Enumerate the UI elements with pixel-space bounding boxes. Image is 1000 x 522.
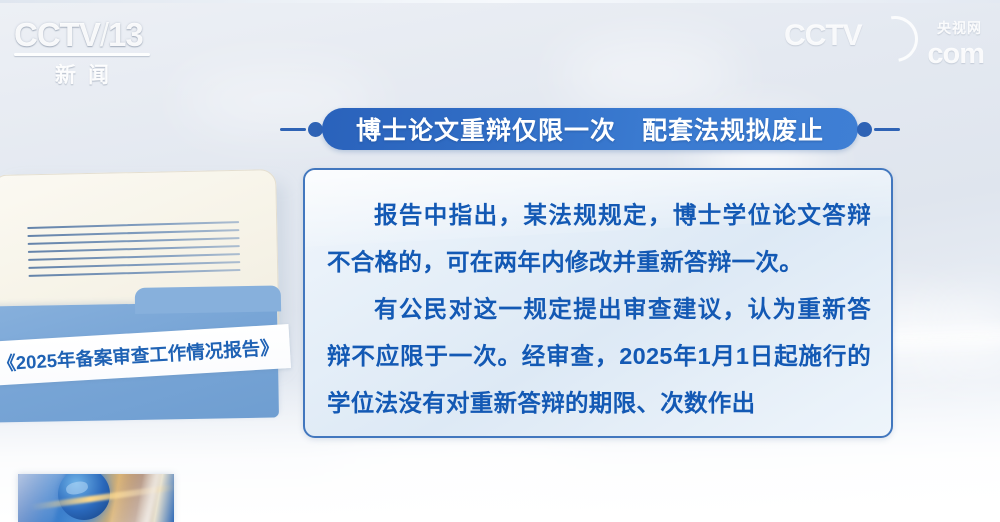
- content-paragraph: 报告中指出，某法规规定，博士学位论文答辩不合格的，可在两年内修改并重新答辩一次。: [327, 192, 871, 286]
- report-folder-illustration: 《2025年备案审查工作情况报告》: [0, 172, 287, 420]
- thumbnail-light-streak: [106, 474, 162, 522]
- document-line: [28, 253, 240, 261]
- cctv13-brand-text: CCTV: [14, 16, 100, 53]
- document-line: [28, 261, 240, 269]
- document-line: [28, 245, 240, 253]
- background-top-line: [0, 0, 1000, 3]
- news-broadcast-thumbnail: [18, 474, 174, 522]
- headline-left-dot-icon: [308, 122, 323, 137]
- background-blob: [560, 40, 740, 110]
- cctv-com-domain-text: com: [927, 38, 984, 71]
- folder-tab: [135, 285, 281, 314]
- document-line: [28, 237, 240, 245]
- cctv13-slash: /: [100, 16, 108, 53]
- cctv13-underline: [14, 53, 150, 56]
- content-paragraph: 有公民对这一规定提出审查建议，认为重新答辩不应限于一次。经审查，2025年1月1…: [327, 286, 871, 427]
- cctv13-subtitle: 新闻: [14, 59, 150, 89]
- broadcast-screen: CCTV/13 新闻 CCTV 央视网 com 博士论文重辩仅限一次 配套法规拟…: [0, 0, 1000, 522]
- headline-right-line: [874, 128, 900, 131]
- background-blob: [330, 430, 590, 510]
- headline-title: 博士论文重辩仅限一次 配套法规拟废止: [356, 111, 824, 147]
- headline-bar: 博士论文重辩仅限一次 配套法规拟废止: [280, 108, 900, 150]
- headline-right-dot-icon: [857, 122, 872, 137]
- swoosh-arc-icon: [863, 7, 927, 71]
- folder-label-text: 《2025年备案审查工作情况报告》: [0, 334, 279, 377]
- headline-left-line: [280, 128, 306, 131]
- cctv-com-chinese-text: 央视网: [937, 18, 982, 38]
- cctv13-wordmark: CCTV/13: [14, 18, 164, 52]
- cctv13-number: 13: [108, 16, 143, 53]
- cctv13-channel-logo: CCTV/13 新闻: [14, 18, 164, 86]
- content-body: 报告中指出，某法规规定，博士学位论文答辩不合格的，可在两年内修改并重新答辩一次。…: [305, 170, 891, 427]
- headline-pill: 博士论文重辩仅限一次 配套法规拟废止: [322, 108, 858, 150]
- content-card: 报告中指出，某法规规定，博士学位论文答辩不合格的，可在两年内修改并重新答辩一次。…: [303, 168, 893, 438]
- cctv-com-logo: CCTV 央视网 com: [784, 20, 984, 78]
- document-line: [29, 269, 241, 277]
- cctv-com-wordmark: CCTV: [784, 20, 984, 52]
- document-line: [27, 229, 239, 237]
- cctv-com-brand-text: CCTV: [784, 19, 862, 52]
- document-text-lines: [27, 221, 241, 287]
- background-blob: [930, 300, 1000, 370]
